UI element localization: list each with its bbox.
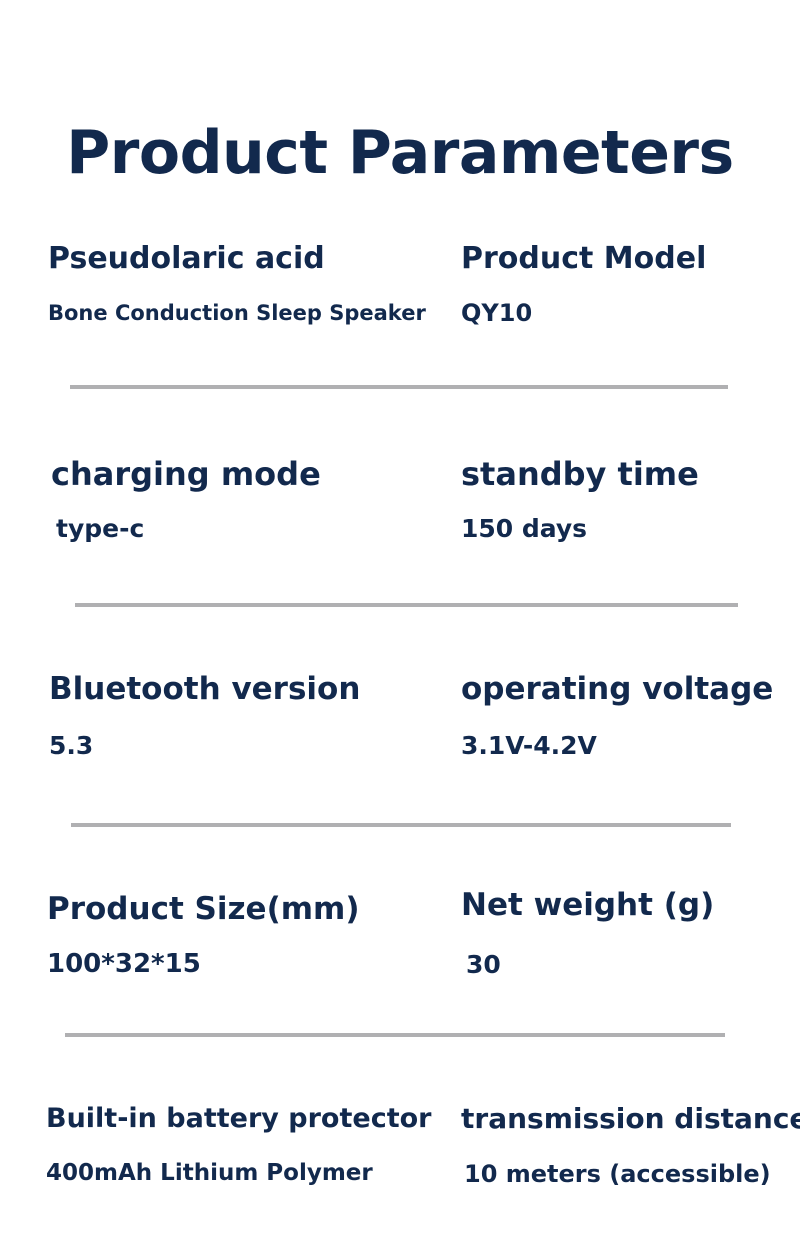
row-divider (71, 823, 731, 827)
spec-value: 30 (466, 952, 797, 977)
spec-value: 150 days (461, 516, 797, 541)
spec-row: Built-in battery protector 400mAh Lithiu… (0, 1105, 800, 1225)
spec-label: Product Model (461, 244, 797, 274)
spec-cell-bluetooth-version: Bluetooth version 5.3 (49, 674, 469, 758)
spec-cell-net-weight: Net weight (g) 30 (461, 890, 797, 977)
spec-cell-product-name: Pseudolaric acid Bone Conduction Sleep S… (48, 244, 468, 324)
spec-value: 10 meters (accessible) (464, 1162, 797, 1186)
spec-cell-battery-protector: Built-in battery protector 400mAh Lithiu… (46, 1105, 466, 1185)
spec-value: Bone Conduction Sleep Speaker (48, 303, 468, 324)
spec-cell-standby-time: standby time 150 days (461, 458, 797, 541)
product-parameters-page: Product Parameters Pseudolaric acid Bone… (0, 0, 800, 1250)
spec-label: transmission distance (461, 1105, 797, 1133)
page-title: Product Parameters (0, 122, 800, 185)
row-divider (75, 603, 738, 607)
row-divider (70, 385, 728, 389)
spec-label: operating voltage (461, 674, 797, 705)
spec-cell-transmission-distance: transmission distance 10 meters (accessi… (461, 1105, 797, 1186)
spec-value: 100*32*15 (47, 951, 467, 977)
spec-label: Bluetooth version (49, 674, 469, 705)
spec-value: 400mAh Lithium Polymer (46, 1162, 466, 1185)
spec-label: charging mode (51, 458, 471, 490)
spec-row: Pseudolaric acid Bone Conduction Sleep S… (0, 244, 800, 364)
spec-value: 3.1V-4.2V (461, 733, 797, 758)
spec-cell-product-model: Product Model QY10 (461, 244, 797, 325)
spec-value: QY10 (461, 301, 797, 325)
spec-cell-charging-mode: charging mode type-c (51, 458, 471, 541)
spec-cell-operating-voltage: operating voltage 3.1V-4.2V (461, 674, 797, 758)
spec-value: 5.3 (49, 733, 469, 758)
spec-row: charging mode type-c standby time 150 da… (0, 458, 800, 578)
spec-label: Pseudolaric acid (48, 244, 468, 274)
spec-row: Bluetooth version 5.3 operating voltage … (0, 674, 800, 794)
spec-label: Built-in battery protector (46, 1105, 466, 1132)
spec-row: Product Size(mm) 100*32*15 Net weight (g… (0, 894, 800, 1014)
spec-label: Product Size(mm) (47, 894, 467, 925)
spec-value: type-c (56, 516, 471, 541)
row-divider (65, 1033, 725, 1037)
spec-cell-product-size: Product Size(mm) 100*32*15 (47, 894, 467, 977)
spec-label: standby time (461, 458, 797, 490)
spec-label: Net weight (g) (461, 890, 797, 921)
